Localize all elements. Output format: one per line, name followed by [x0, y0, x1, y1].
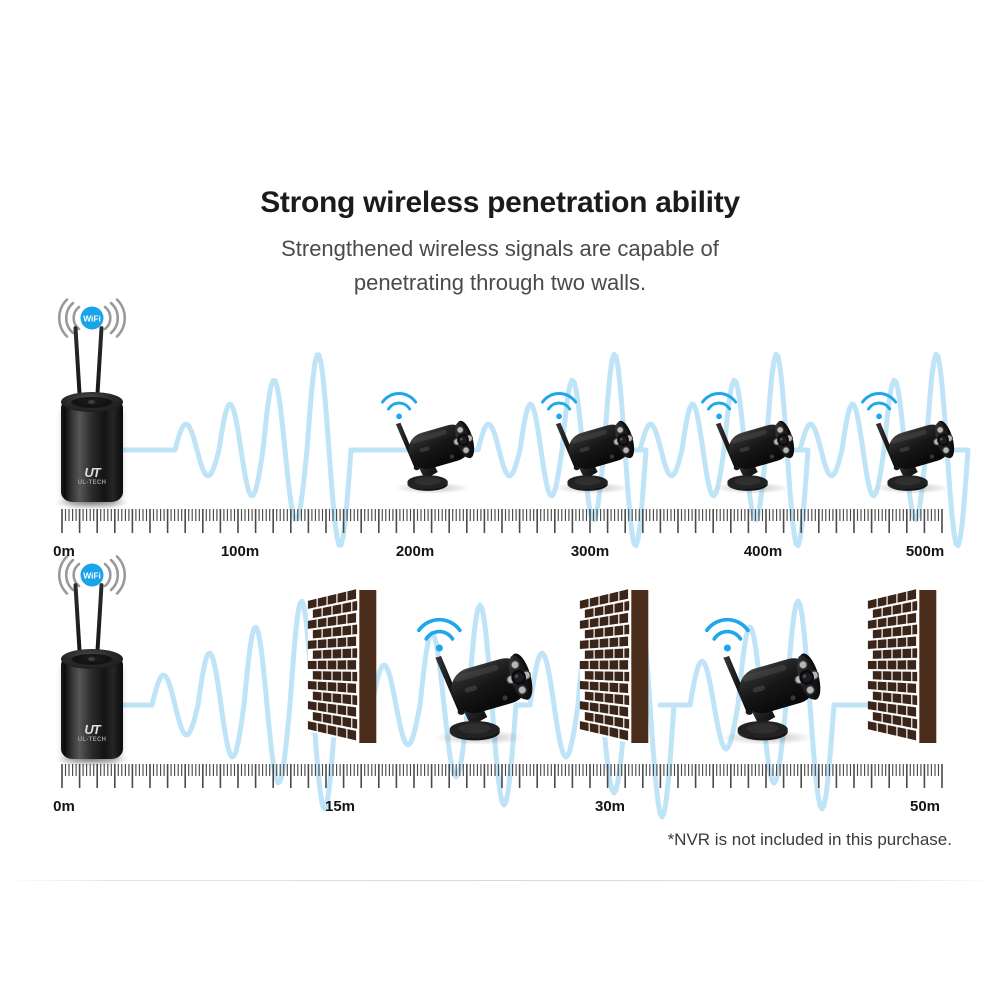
ruler-label-300m: 300m: [571, 543, 609, 560]
brick: [893, 627, 902, 637]
brick: [318, 661, 327, 670]
brick: [878, 639, 887, 648]
brick: [308, 701, 317, 710]
brick: [342, 717, 351, 728]
camera-open-2: [537, 380, 647, 500]
brick: [338, 660, 347, 669]
bottom-divider: [0, 880, 1000, 881]
brick: [610, 705, 619, 715]
svg-text:WiFi: WiFi: [83, 314, 101, 324]
ruler-500m: 0m100m200m300m400m500m: [0, 505, 1000, 565]
camera-open-4: [857, 380, 967, 500]
brick: [888, 638, 897, 647]
brick: [595, 628, 604, 638]
brick: [907, 683, 916, 693]
brick: [878, 661, 887, 670]
page-title: Strong wireless penetration ability: [0, 186, 1000, 220]
brick: [323, 606, 332, 616]
brick: [883, 650, 892, 659]
brick-wall-illustration: [306, 587, 382, 745]
brick: [888, 682, 897, 691]
brick: [580, 681, 589, 690]
brick: [595, 650, 604, 659]
brick-wall-1: [306, 587, 382, 745]
camera-illustration: [700, 603, 837, 751]
brick: [333, 627, 342, 637]
brick: [619, 683, 628, 693]
nvr-body: [61, 398, 123, 502]
brick: [610, 615, 619, 625]
brand-logo-ut: UT: [55, 466, 129, 479]
brick: [347, 636, 356, 646]
brick: [912, 625, 917, 635]
nvr-transmitter-through-walls: WiFi UT UL-TECH: [55, 555, 129, 765]
brick: [878, 618, 887, 628]
brick: [878, 682, 887, 691]
camera-illustration: [857, 380, 967, 500]
brick: [888, 594, 897, 605]
brick: [585, 692, 594, 701]
brick: [352, 695, 357, 705]
ruler-label-15m: 15m: [325, 798, 355, 815]
brick: [624, 672, 629, 682]
brick-wall-3: [866, 587, 942, 745]
brick: [590, 702, 599, 712]
brick: [308, 619, 317, 628]
brick: [619, 613, 628, 624]
brick: [328, 616, 337, 626]
brick: [883, 671, 892, 680]
wifi-signal-icon: [702, 393, 735, 409]
brick: [342, 602, 351, 613]
brick: [585, 712, 594, 722]
brick-wall-2: [578, 587, 654, 745]
brick: [313, 629, 322, 638]
nvr-indicator-dot: [88, 657, 95, 661]
brick: [893, 604, 902, 615]
brick: [318, 639, 327, 648]
brick: [912, 695, 917, 705]
brick: [308, 661, 317, 669]
brick: [600, 638, 609, 647]
camera-illustration: [697, 380, 807, 500]
brick: [342, 649, 351, 659]
ruler-ticks-50m: [0, 760, 1000, 792]
brick: [338, 592, 347, 603]
brick: [318, 618, 327, 628]
ruler-label-500m: 500m: [906, 543, 944, 560]
subtitle-line-1: Strengthened wireless signals are capabl…: [0, 232, 1000, 266]
brick: [313, 650, 322, 659]
brick: [313, 712, 322, 722]
brick: [595, 606, 604, 616]
brick: [595, 671, 604, 680]
brand-logo-ultech: UL-TECH: [55, 737, 129, 743]
ruler-label-400m: 400m: [744, 543, 782, 560]
brick: [902, 717, 911, 728]
brick: [347, 613, 356, 624]
brick: [868, 701, 877, 710]
brick: [624, 695, 629, 705]
wall-edge-gap: [917, 589, 919, 743]
brick: [342, 672, 351, 681]
brick: [614, 694, 623, 704]
camera-illustration: [412, 603, 549, 751]
brick: [313, 692, 322, 701]
brick: [868, 681, 877, 690]
brick: [347, 660, 356, 669]
brick: [873, 650, 882, 659]
brick: [580, 619, 589, 628]
brick: [898, 592, 907, 603]
brick: [318, 702, 327, 712]
brand-logo-ut: UT: [55, 723, 129, 736]
wifi-dot-icon: [396, 413, 402, 419]
brick: [605, 671, 614, 680]
brick: [898, 660, 907, 669]
brick: [328, 660, 337, 669]
brick: [352, 601, 357, 611]
brick: [907, 706, 916, 717]
brick: [893, 715, 902, 725]
brick: [873, 629, 882, 638]
brick: [323, 628, 332, 638]
brick: [580, 661, 589, 669]
brick: [912, 719, 917, 729]
wifi-dot-icon: [556, 413, 562, 419]
brick: [902, 625, 911, 635]
brick: [907, 660, 916, 669]
nvr-indicator-dot: [88, 400, 95, 404]
brick: [347, 706, 356, 717]
brick: [323, 650, 332, 659]
wifi-signal-icon: [706, 620, 747, 639]
brick: [600, 704, 609, 714]
brick: [898, 683, 907, 693]
brick: [338, 683, 347, 693]
brick: [614, 672, 623, 681]
wall-side-slab: [359, 590, 376, 743]
brick: [878, 596, 887, 606]
brick: [352, 648, 357, 658]
wifi-dot-icon: [723, 644, 730, 651]
brick: [318, 682, 327, 691]
wall-side-slab: [919, 590, 936, 743]
brick: [888, 704, 897, 714]
brick: [888, 660, 897, 669]
brick: [893, 671, 902, 680]
brick: [619, 706, 628, 717]
brick: [624, 648, 629, 658]
nvr-transmitter-open-space: WiFi UT UL-TECH: [55, 298, 129, 508]
brick: [590, 639, 599, 648]
brick: [338, 705, 347, 715]
brick: [580, 640, 589, 649]
brick: [333, 715, 342, 725]
brick: [868, 640, 877, 649]
brick: [898, 705, 907, 715]
brick: [333, 671, 342, 680]
brick: [333, 649, 342, 658]
camera-open-1: [377, 380, 487, 500]
brick: [605, 693, 614, 703]
brick: [912, 672, 917, 682]
brick: [595, 692, 604, 702]
brick: [600, 660, 609, 669]
brick: [605, 715, 614, 725]
brick: [610, 660, 619, 669]
brick: [902, 649, 911, 659]
wall-edge-gap: [357, 589, 359, 743]
brick: [328, 704, 337, 714]
brick: [600, 594, 609, 605]
brick: [614, 602, 623, 613]
wall-edge-gap: [629, 589, 631, 743]
brick: [580, 701, 589, 710]
brick: [878, 702, 887, 712]
brick: [342, 694, 351, 704]
brick: [619, 589, 628, 600]
brick: [590, 618, 599, 628]
brick: [328, 594, 337, 605]
camera-open-3: [697, 380, 807, 500]
brick: [610, 683, 619, 693]
brick: [907, 613, 916, 624]
brick: [318, 596, 327, 606]
brick: [614, 625, 623, 635]
brick: [352, 719, 357, 729]
brick: [619, 660, 628, 669]
brick: [624, 719, 629, 729]
brick: [902, 672, 911, 681]
brick: [328, 638, 337, 647]
brick: [308, 681, 317, 690]
brick: [873, 712, 882, 722]
brick: [585, 629, 594, 638]
ruler-label-0m: 0m: [53, 543, 75, 560]
brick: [610, 637, 619, 647]
brick: [595, 714, 604, 724]
brick: [347, 683, 356, 693]
brick: [883, 628, 892, 638]
brick: [619, 636, 628, 646]
brick: [912, 601, 917, 611]
brick: [590, 661, 599, 670]
brick: [352, 625, 357, 635]
brick: [313, 671, 322, 680]
ruler-label-50m: 50m: [910, 798, 940, 815]
wifi-dot-icon: [716, 413, 722, 419]
wifi-dot-icon: [876, 413, 882, 419]
brick: [323, 692, 332, 702]
brick: [352, 672, 357, 682]
camera-illustration: [537, 380, 647, 500]
svg-text:WiFi: WiFi: [83, 571, 101, 581]
camera-walls-1: [412, 603, 549, 751]
ruler-label-100m: 100m: [221, 543, 259, 560]
ruler-label-200m: 200m: [396, 543, 434, 560]
brick: [902, 602, 911, 613]
wifi-badge-icon: WiFi: [55, 298, 129, 338]
brick: [600, 616, 609, 626]
brick: [308, 640, 317, 649]
brick: [868, 619, 877, 628]
brick: [883, 606, 892, 616]
brick: [605, 627, 614, 637]
brick: [328, 682, 337, 691]
brick: [614, 717, 623, 728]
brick: [614, 649, 623, 659]
brick: [342, 625, 351, 635]
wifi-signal-icon: [862, 393, 895, 409]
brick: [893, 649, 902, 658]
ruler-label-30m: 30m: [595, 798, 625, 815]
wifi-dot-icon: [435, 644, 442, 651]
brick: [624, 625, 629, 635]
infographic-stage: Strong wireless penetration ability Stre…: [0, 0, 1000, 1000]
brick: [333, 604, 342, 615]
brick-wall-illustration: [578, 587, 654, 745]
brick: [600, 682, 609, 691]
nvr-body: [61, 655, 123, 759]
brand-logo-ultech: UL-TECH: [55, 480, 129, 486]
ruler-label-0m: 0m: [53, 798, 75, 815]
brick: [873, 692, 882, 701]
brick: [898, 637, 907, 647]
brick: [605, 649, 614, 658]
brick: [585, 650, 594, 659]
brick: [902, 694, 911, 704]
brick: [907, 636, 916, 646]
brick: [333, 693, 342, 703]
brick-wall-illustration: [866, 587, 942, 745]
camera-illustration: [377, 380, 487, 500]
brick: [912, 648, 917, 658]
footnote-nvr-not-included: *NVR is not included in this purchase.: [668, 830, 952, 850]
brick: [585, 671, 594, 680]
ruler-ticks-500m: [0, 505, 1000, 537]
ruler-50m: 0m15m30m50m: [0, 760, 1000, 820]
brick: [605, 604, 614, 615]
wifi-signal-icon: [542, 393, 575, 409]
brick: [323, 714, 332, 724]
brick: [590, 682, 599, 691]
brick: [888, 616, 897, 626]
brick: [347, 589, 356, 600]
wifi-signal-icon: [382, 393, 415, 409]
brick: [873, 671, 882, 680]
wall-side-slab: [631, 590, 648, 743]
brick: [338, 615, 347, 625]
brick: [323, 671, 332, 680]
brick: [610, 592, 619, 603]
brick: [893, 693, 902, 703]
brick: [907, 589, 916, 600]
brick: [590, 596, 599, 606]
camera-walls-2: [700, 603, 837, 751]
brick: [883, 692, 892, 702]
brick: [624, 601, 629, 611]
brick: [883, 714, 892, 724]
brick: [898, 615, 907, 625]
brick: [338, 637, 347, 647]
brick: [868, 661, 877, 669]
wifi-signal-icon: [418, 620, 459, 639]
